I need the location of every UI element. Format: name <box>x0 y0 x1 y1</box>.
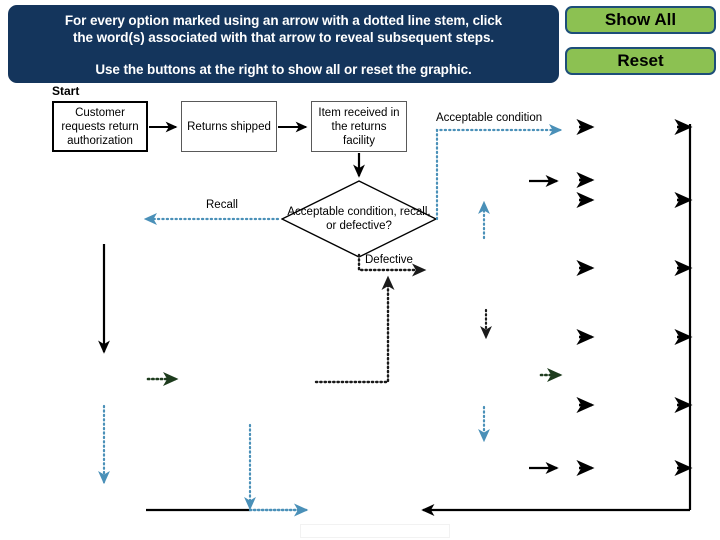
connector-acceptable-condition-dotted <box>437 130 560 219</box>
flowchart-stage: For every option marked using an arrow w… <box>0 0 720 540</box>
connector-layer <box>0 0 720 540</box>
connector-return-to-defective-dotted <box>316 278 388 382</box>
bottom-placeholder-box <box>300 524 450 538</box>
connector-defective-dotted <box>359 255 424 270</box>
